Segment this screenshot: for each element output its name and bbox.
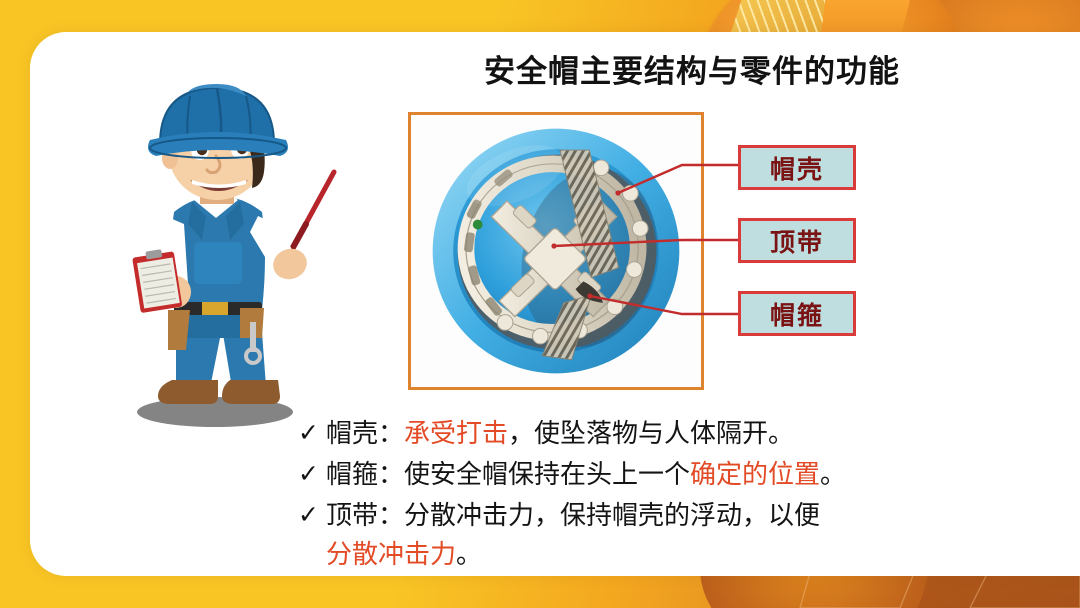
bullet-item: ✓帽壳：承受打击，使坠落物与人体隔开。 <box>298 414 1018 453</box>
bullet-list: ✓帽壳：承受打击，使坠落物与人体隔开。✓帽箍：使安全帽保持在头上一个确定的位置。… <box>298 414 1018 576</box>
bullet-text: 。 <box>456 539 482 569</box>
helmet-photo-frame <box>408 112 704 390</box>
bullet-text: 帽壳： <box>326 418 404 448</box>
bullet-body: 帽壳：承受打击，使坠落物与人体隔开。 <box>326 414 1018 453</box>
bullet-body: 帽箍：使安全帽保持在头上一个确定的位置。 <box>326 455 1018 494</box>
check-icon: ✓ <box>298 414 326 453</box>
bullet-item: ✓帽箍：使安全帽保持在头上一个确定的位置。 <box>298 455 1018 494</box>
slide-root: 安全帽主要结构与零件的功能 <box>0 0 1080 608</box>
callout-label-top-band[interactable]: 顶带 <box>738 218 856 263</box>
bullet-highlight-text: 分散冲击力 <box>326 539 456 569</box>
check-icon: ✓ <box>298 496 326 535</box>
bullet-item: ✓顶带：分散冲击力，保持帽壳的浮动，以便分散冲击力。 <box>298 496 1018 574</box>
bullet-highlight-text: 承受打击 <box>404 418 508 448</box>
content-card: 安全帽主要结构与零件的功能 <box>30 32 1080 576</box>
bullet-highlight-text: 确定的位置 <box>690 459 820 489</box>
callout-label-helmet-shell[interactable]: 帽壳 <box>738 145 856 190</box>
helmet-interior-photo <box>417 121 695 381</box>
bullet-body: 顶带：分散冲击力，保持帽壳的浮动，以便分散冲击力。 <box>326 496 1018 574</box>
cartoon-worker-illustration <box>90 70 350 430</box>
bullet-text: 顶带：分散冲击力，保持帽壳的浮动，以便 <box>326 500 820 530</box>
callout-label-headband[interactable]: 帽箍 <box>738 291 856 336</box>
page-title: 安全帽主要结构与零件的功能 <box>372 46 1012 91</box>
bullet-continuation: 分散冲击力。 <box>326 535 1018 574</box>
check-icon: ✓ <box>298 455 326 494</box>
bullet-text: ，使坠落物与人体隔开。 <box>508 418 794 448</box>
bullet-text: 帽箍：使安全帽保持在头上一个 <box>326 459 690 489</box>
bullet-text: 。 <box>820 459 846 489</box>
